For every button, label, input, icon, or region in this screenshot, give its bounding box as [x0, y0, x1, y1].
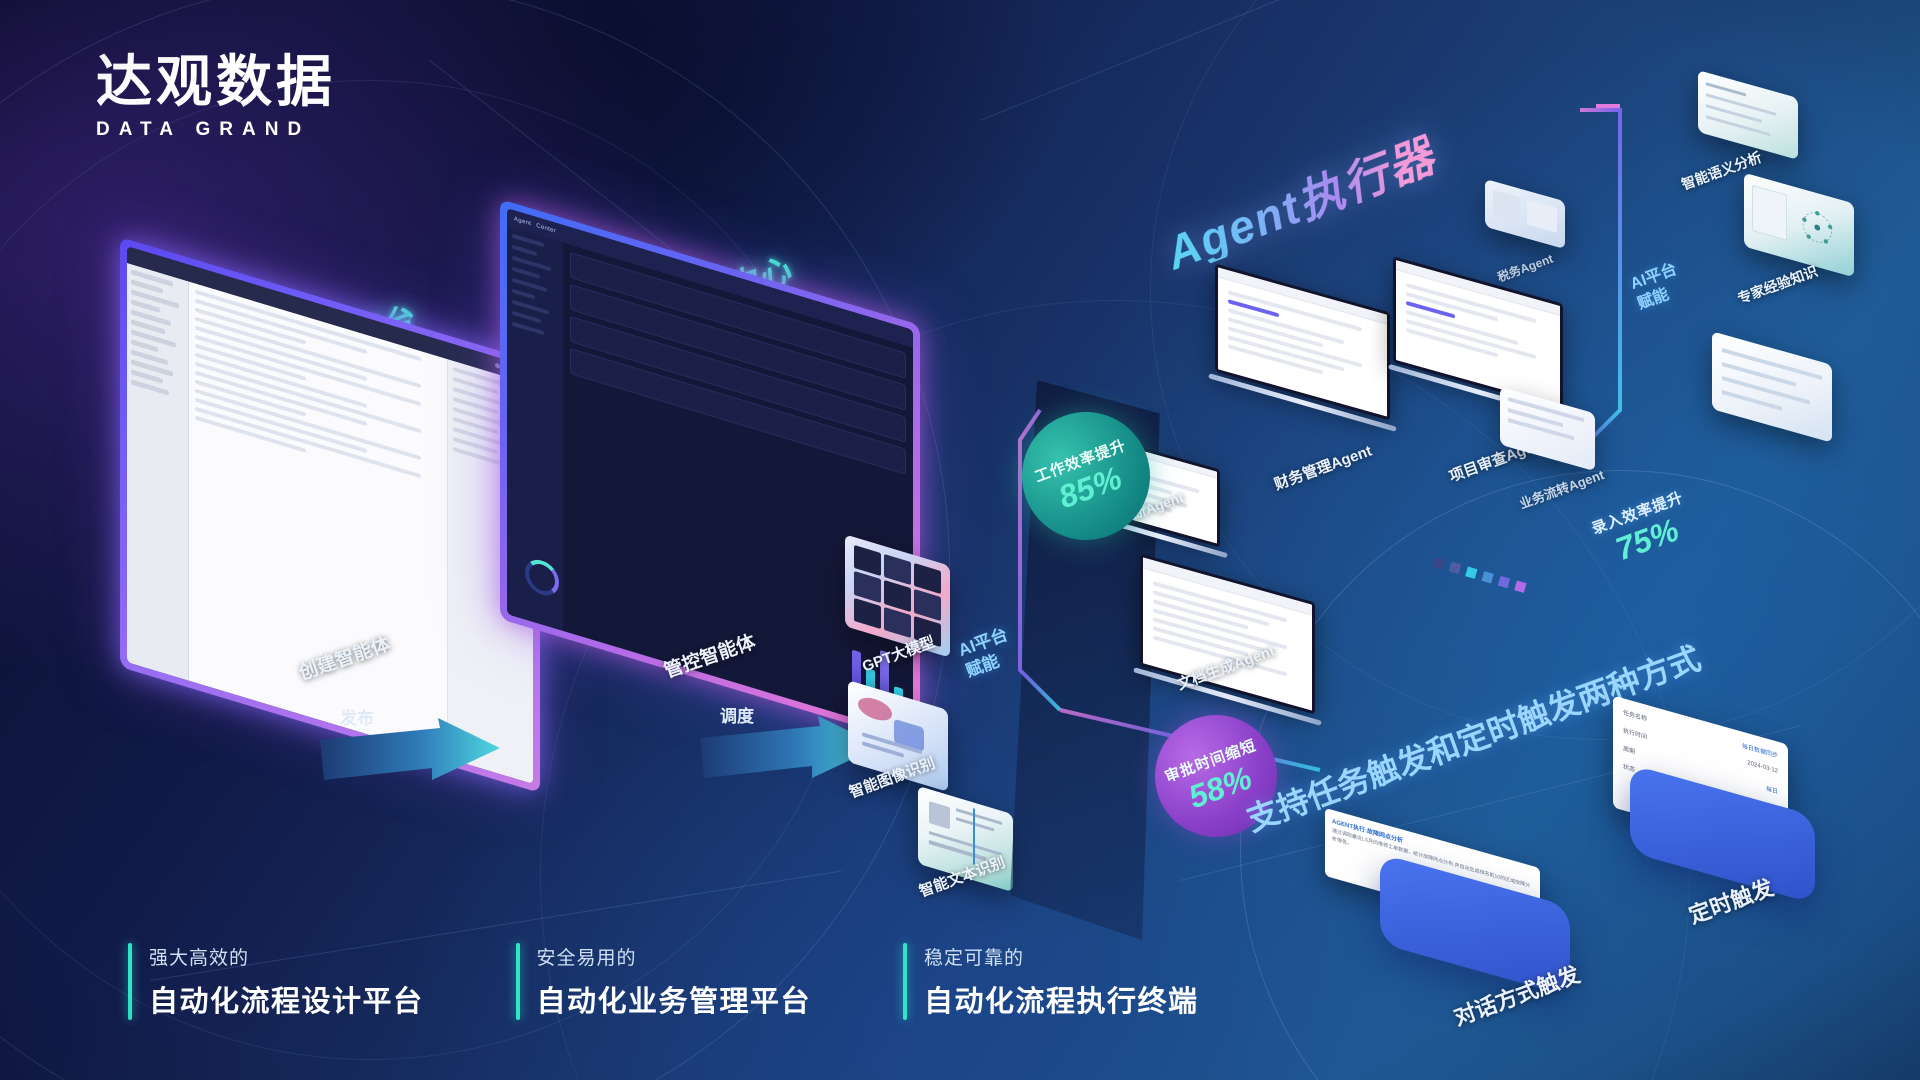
footer-caption-2: 安全易用的 自动化业务管理平台	[516, 943, 812, 1020]
footer-caption-1: 强大高效的 自动化流程设计平台	[128, 943, 424, 1020]
caption-subtitle: 安全易用的	[537, 943, 812, 970]
row-key: 任务名称	[1623, 707, 1647, 723]
row-value: 每日数据同步	[1742, 741, 1778, 760]
caption-title: 自动化流程设计平台	[149, 978, 424, 1020]
row-value: 每日	[1766, 783, 1778, 795]
flow-arrow-publish: 发布	[320, 718, 500, 804]
caption-title: 自动化业务管理平台	[537, 978, 812, 1020]
poster-stage: 达观数据 DATA GRAND Agent开发平台	[0, 0, 1920, 1080]
brand-name-en: DATA GRAND	[96, 119, 336, 141]
caption-accent-bar	[516, 943, 520, 1020]
footer-captions: 强大高效的 自动化流程设计平台 安全易用的 自动化业务管理平台 稳定可靠的 自动…	[128, 943, 1291, 1020]
brand-name-cn: 达观数据	[96, 52, 336, 112]
caption-accent-bar	[128, 943, 132, 1020]
caption-subtitle: 强大高效的	[149, 943, 424, 970]
flow-arrow-schedule-label: 调度	[720, 702, 754, 727]
caption-accent-bar	[903, 943, 907, 1020]
row-value: 2024-03-12	[1747, 760, 1778, 778]
row-key: 执行时间	[1623, 725, 1647, 741]
row-key: 周期	[1623, 743, 1635, 755]
brand-logo: 达观数据 DATA GRAND	[96, 52, 336, 141]
flow-arrow-publish-label: 发布	[340, 704, 374, 729]
footer-caption-3: 稳定可靠的 自动化流程执行终端	[903, 943, 1199, 1020]
caption-subtitle: 稳定可靠的	[924, 943, 1199, 970]
caption-title: 自动化流程执行终端	[924, 978, 1199, 1020]
row-key: 状态	[1623, 761, 1635, 773]
